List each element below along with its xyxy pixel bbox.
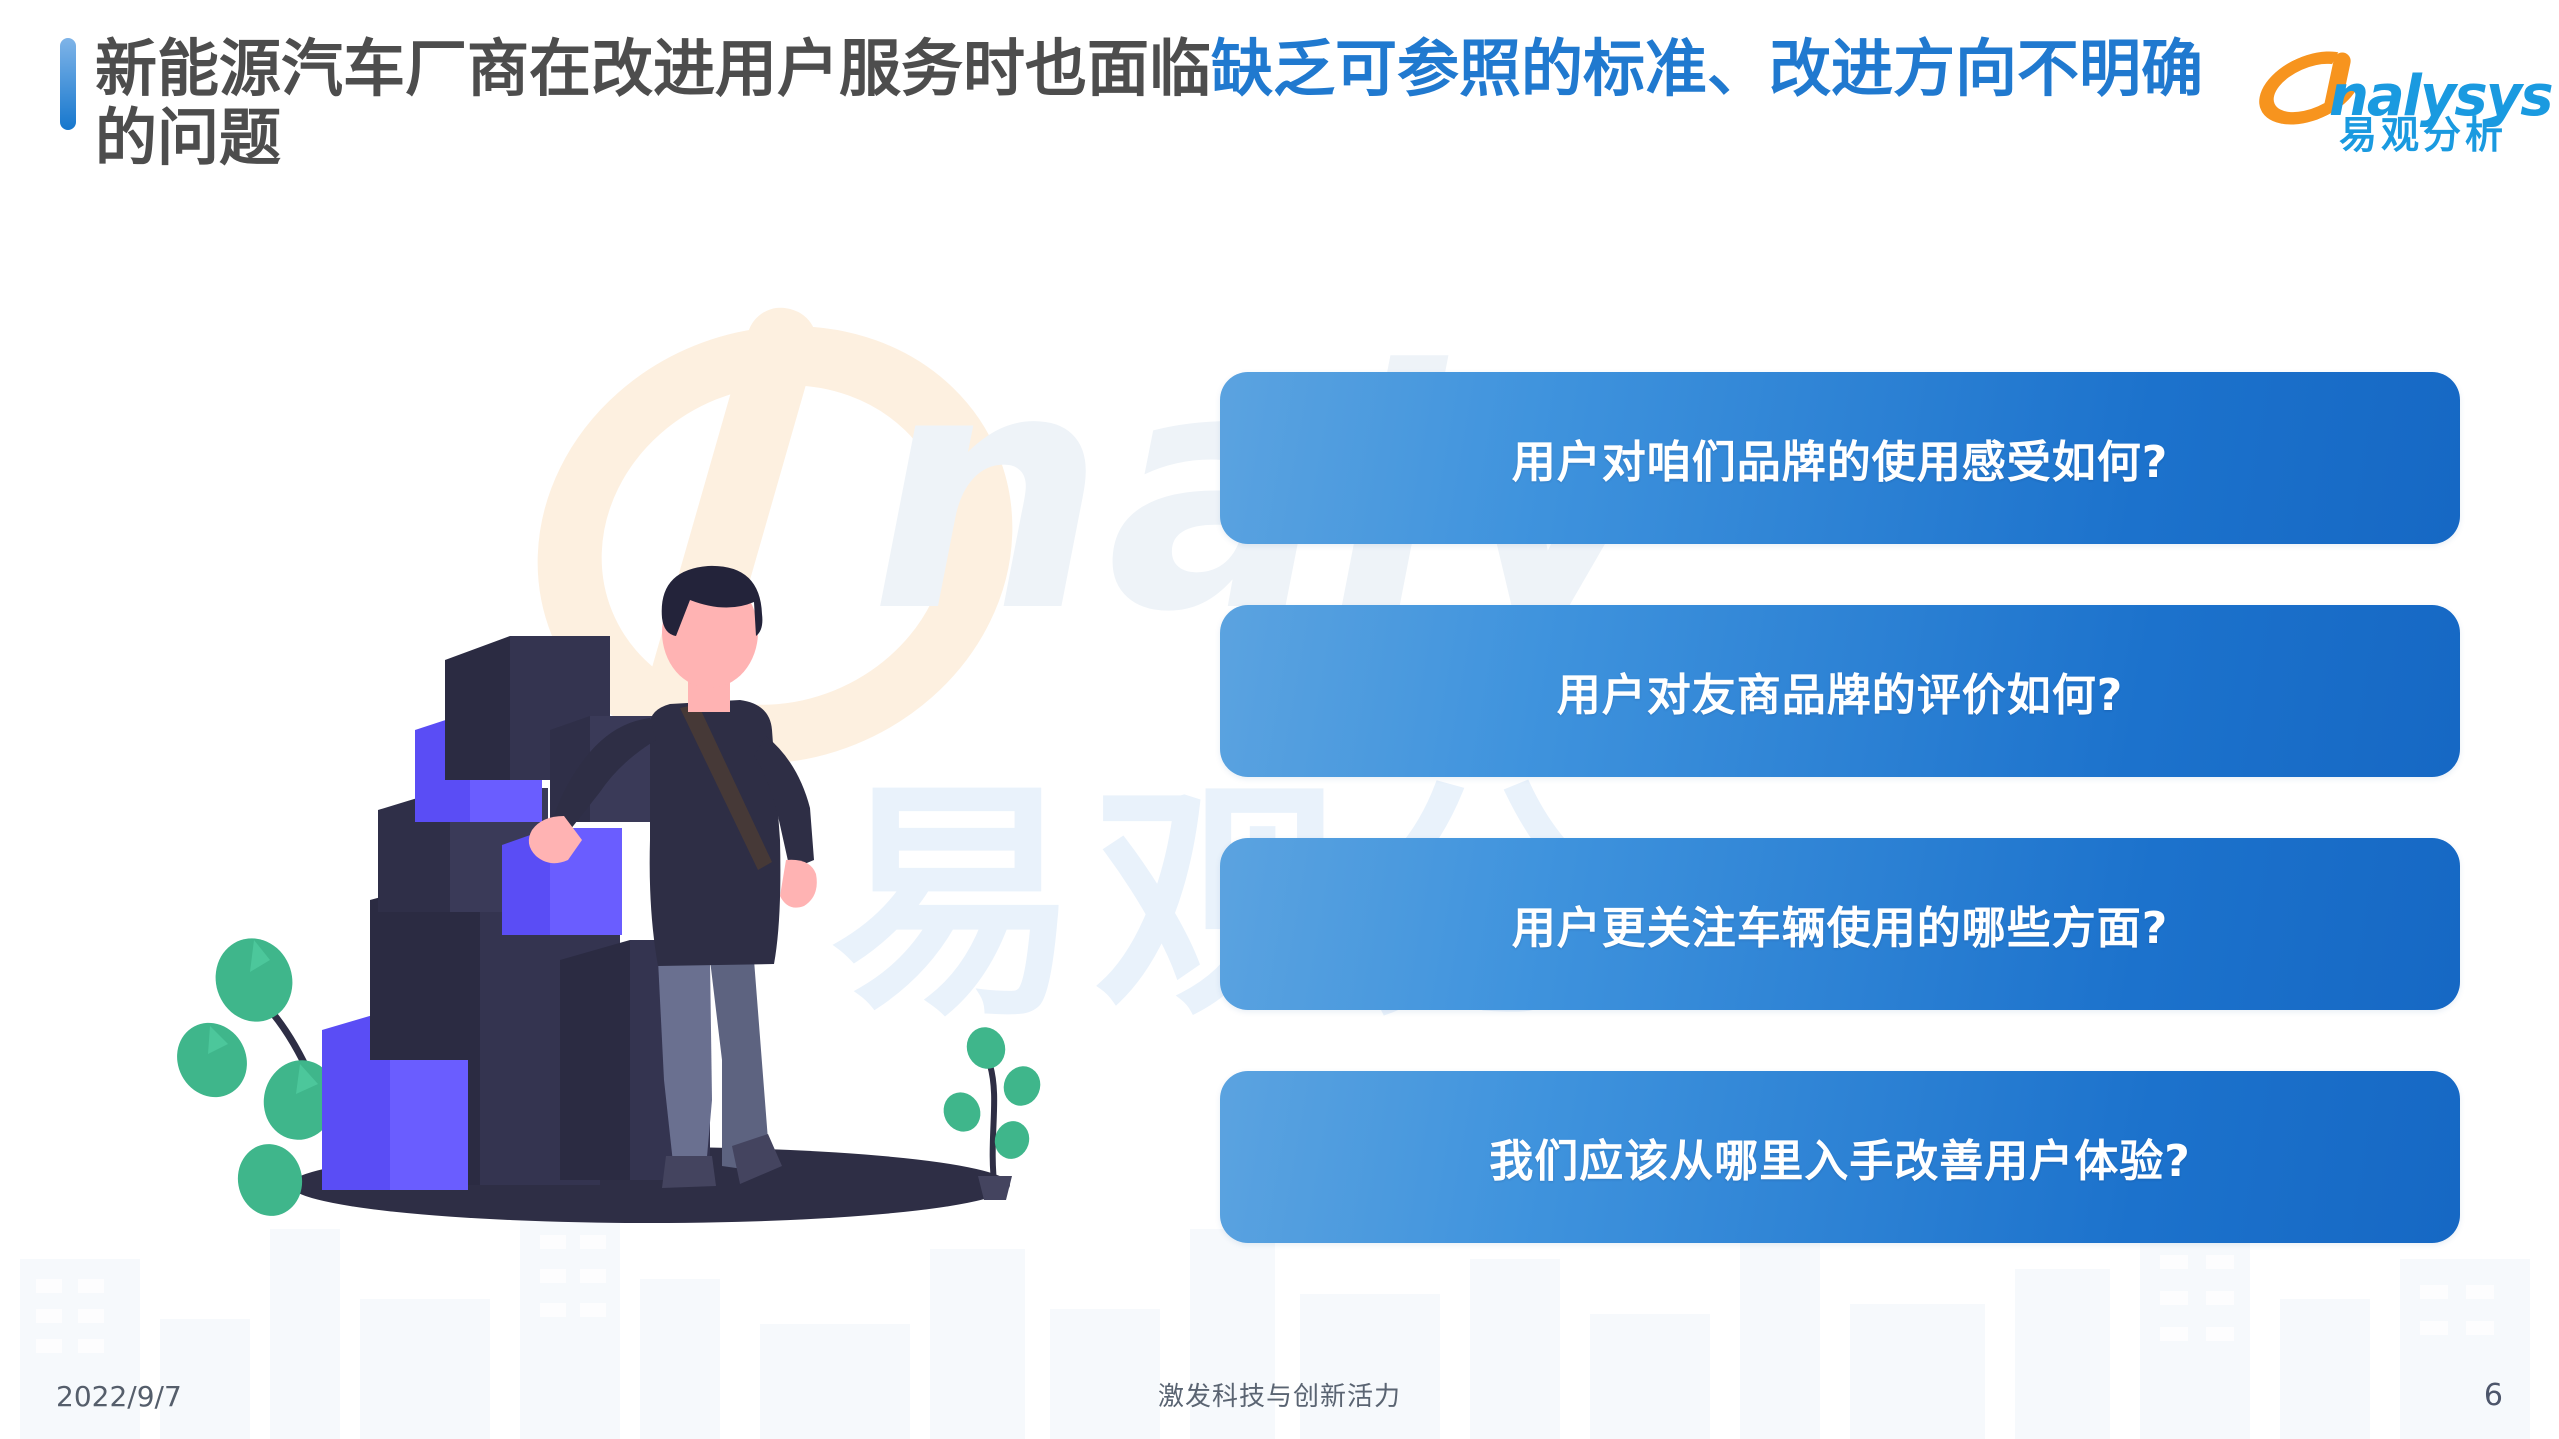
question-box-3-label: 用户更关注车辆使用的哪些方面?: [1512, 892, 2169, 956]
footer-tagline: 激发科技与创新活力: [0, 1376, 2559, 1413]
illustration-man-with-boxes: [150, 540, 1150, 1260]
title-highlight: 缺乏可参照的标准、改进方向不明确: [1211, 32, 2203, 105]
question-box-1[interactable]: 用户对咱们品牌的使用感受如何?: [1220, 372, 2460, 544]
question-box-2[interactable]: 用户对友商品牌的评价如何?: [1220, 605, 2460, 777]
title-plain-suffix: 的问题: [95, 101, 281, 174]
title-accent-bar: [60, 38, 76, 130]
question-box-list: 用户对咱们品牌的使用感受如何? 用户对友商品牌的评价如何? 用户更关注车辆使用的…: [1220, 372, 2460, 1243]
page-title: 新能源汽车厂商在改进用户服务时也面临缺乏可参照的标准、改进方向不明确的问题: [95, 34, 2215, 173]
footer-page-number: 6: [2484, 1378, 2503, 1413]
analysys-logo: nalysys 易观分析: [2267, 28, 2517, 146]
question-box-4-label: 我们应该从哪里入手改善用户体验?: [1489, 1125, 2191, 1189]
question-box-4[interactable]: 我们应该从哪里入手改善用户体验?: [1220, 1071, 2460, 1243]
logo-chinese-name: 易观分析: [2339, 104, 2507, 159]
slide-root: naly 易观分: [0, 0, 2559, 1439]
question-box-2-label: 用户对友商品牌的评价如何?: [1557, 659, 2124, 723]
logo-mark: nalysys: [2267, 50, 2517, 112]
title-plain-prefix: 新能源汽车厂商在改进用户服务时也面临: [95, 32, 1211, 105]
question-box-1-label: 用户对咱们品牌的使用感受如何?: [1512, 426, 2169, 490]
question-box-3[interactable]: 用户更关注车辆使用的哪些方面?: [1220, 838, 2460, 1010]
